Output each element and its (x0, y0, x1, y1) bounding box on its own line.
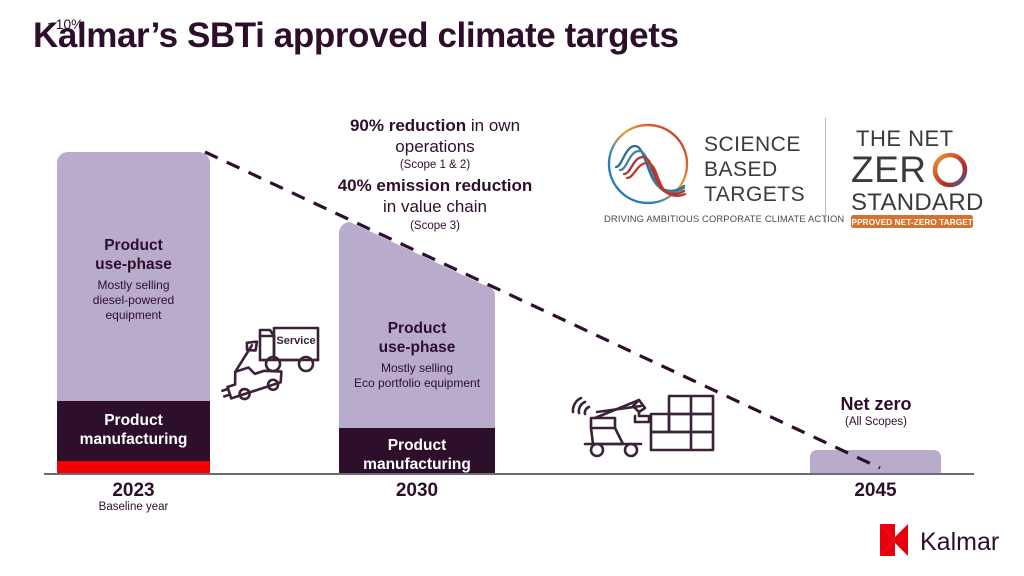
bar-2045-residual-label: ~10% (0, 12, 131, 35)
bar-2030-use-phase-label: Product use-phase Mostly selling Eco por… (339, 320, 495, 391)
axis-label-2030: 2030 (339, 480, 495, 502)
service-truck-icon-group: Service (218, 322, 338, 404)
kalmar-wordmark: Kalmar (920, 528, 999, 556)
axis-label-2045: 2045 (810, 480, 941, 502)
net-zero-standard-logo: THE NET ZER STANDARD APPROVED NET-ZERO T… (848, 120, 978, 228)
bar-2023-use-phase-label: Product use-phase Mostly selling diesel-… (57, 237, 210, 323)
callout-line1-bold: 90% reduction (350, 116, 466, 135)
label-heading-line1: Product (388, 320, 447, 337)
logo-divider (825, 118, 826, 223)
label-heading-line1: Product (388, 437, 447, 454)
nzs-line1: THE NET (856, 126, 954, 151)
label-sub-line1: Mostly selling (97, 278, 169, 292)
net-zero-callout: Net zero (All Scopes) (806, 394, 946, 428)
kalmar-k-mark (880, 524, 908, 556)
bar-2023-manufacturing-label: Product manufacturing (57, 412, 210, 449)
bar-2045-residual (810, 450, 941, 473)
label-heading-line1: Product (104, 237, 163, 254)
targets-callout: 90% reduction in own operations (Scope 1… (300, 116, 570, 233)
label-sub-line1: Mostly selling (381, 361, 453, 375)
axis-label-2023: 2023 (57, 480, 210, 502)
callout-scope-3: (Scope 3) (300, 219, 570, 233)
reach-stacker-icon (585, 400, 649, 456)
bar-2030-manufacturing-label: Product manufacturing (330, 437, 504, 474)
label-heading-line2: manufacturing (80, 431, 188, 448)
callout-line2: operations (300, 137, 570, 158)
reach-stacker-icon-group (565, 382, 715, 466)
service-truck-label: Service (276, 335, 315, 347)
label-sub-line2: Eco portfolio equipment (354, 376, 480, 390)
sbti-tagline: DRIVING AMBITIOUS CORPORATE CLIMATE ACTI… (604, 213, 844, 224)
sbti-line2: BASED (704, 158, 778, 181)
slide-root: Kalmar’s SBTi approved climate targets P… (0, 0, 1024, 576)
label-heading-line2: manufacturing (363, 456, 471, 473)
label-sub-line2: diesel-powered (93, 293, 174, 307)
label-heading-line1: Product (104, 412, 163, 429)
label-heading-line2: use-phase (379, 339, 456, 356)
bar-2023-own-operations-label: Own operations (0, 0, 153, 12)
emissions-chart: Product use-phase Mostly selling diesel-… (0, 0, 1024, 576)
net-zero-heading: Net zero (806, 394, 946, 415)
wifi-signal-icon (573, 398, 589, 414)
net-zero-subtext: (All Scopes) (806, 416, 946, 428)
callout-line4: in value chain (300, 197, 570, 218)
nzs-line3: STANDARD (851, 189, 984, 216)
nzs-badge: APPROVED NET-ZERO TARGETS (846, 218, 979, 227)
sbti-line3: TARGETS (704, 183, 805, 206)
callout-scope-1-2: (Scope 1 & 2) (300, 158, 570, 172)
nzs-line2: ZER (851, 149, 927, 190)
container-stack-icon (651, 396, 713, 450)
axis-note-2023: Baseline year (57, 501, 210, 513)
axis-baseline (44, 473, 974, 475)
kalmar-logo: Kalmar (878, 522, 1000, 558)
bar-2023-own-operations (57, 461, 210, 473)
callout-line1-rest: in own (466, 116, 520, 135)
label-heading-line2: use-phase (95, 256, 172, 273)
science-based-targets-logo: SCIENCE BASED TARGETS DRIVING AMBITIOUS … (600, 118, 806, 228)
callout-line3: 40% emission reduction (300, 176, 570, 197)
sbti-line1: SCIENCE (704, 133, 801, 156)
label-sub-line3: equipment (105, 308, 161, 322)
